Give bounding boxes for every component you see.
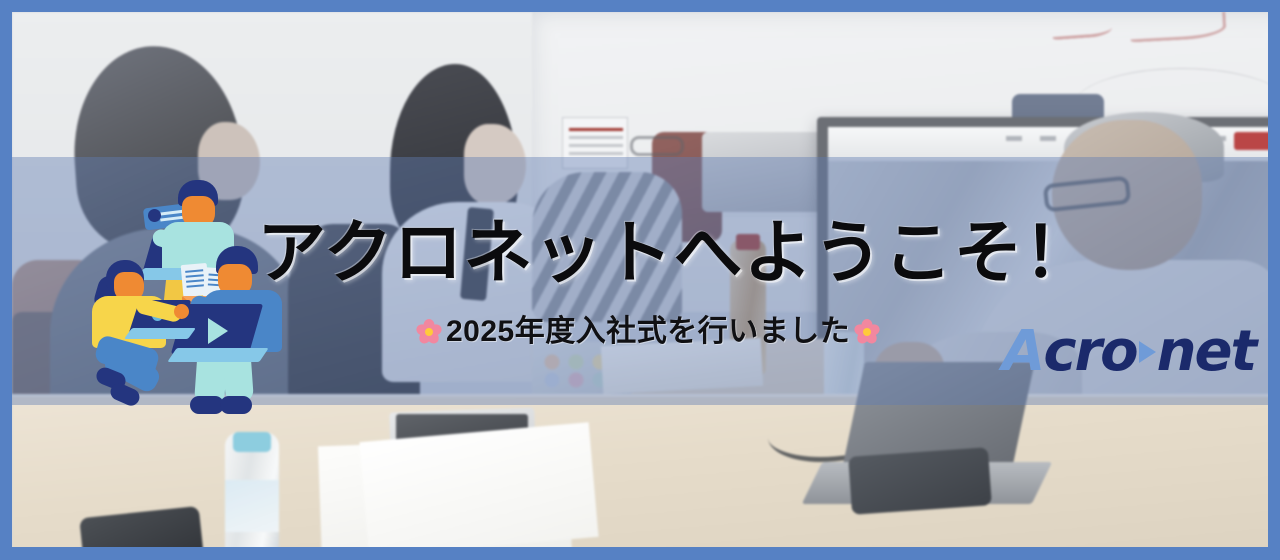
banner-subtitle-row: 2025年度入社式を行いました (416, 313, 880, 351)
photo-frame: アクロネットへようこそ！ 2025年度入社式を行いました A cro net (12, 12, 1268, 547)
figure-3-shoe-left (190, 396, 224, 414)
glasses-on-desk (630, 136, 684, 156)
banner-subtitle-text: 2025年度入社式を行いました (446, 313, 850, 351)
banner-title: アクロネットへようこそ！ (257, 218, 1094, 287)
acronet-logo: A cro net (1002, 324, 1255, 380)
illustration-avatar-icon (148, 209, 161, 222)
cherry-blossom-icon (854, 319, 880, 345)
figure-3-shoe-right (220, 396, 252, 414)
figure-2-laptop-keyboard (124, 328, 196, 339)
logo-text-cro: cro (1043, 324, 1136, 380)
monitor-record-button (1234, 132, 1268, 150)
water-bottle-label (225, 480, 279, 532)
grey-device (848, 447, 992, 515)
three-people-with-laptops-illustration (78, 172, 283, 427)
paper-sheet-2 (359, 422, 598, 547)
water-bottle-cap (233, 432, 271, 452)
logo-text-net: net (1157, 324, 1256, 380)
welcome-banner: アクロネットへようこそ！ 2025年度入社式を行いました A cro net (0, 0, 1280, 560)
figure-3-laptop-keyboard (167, 348, 268, 362)
logo-letter-a: A (1002, 324, 1043, 380)
cherry-blossom-icon (416, 319, 442, 345)
figure-2-hand (174, 304, 189, 319)
arrow-right-icon (1139, 341, 1156, 363)
play-triangle-icon (208, 318, 228, 344)
